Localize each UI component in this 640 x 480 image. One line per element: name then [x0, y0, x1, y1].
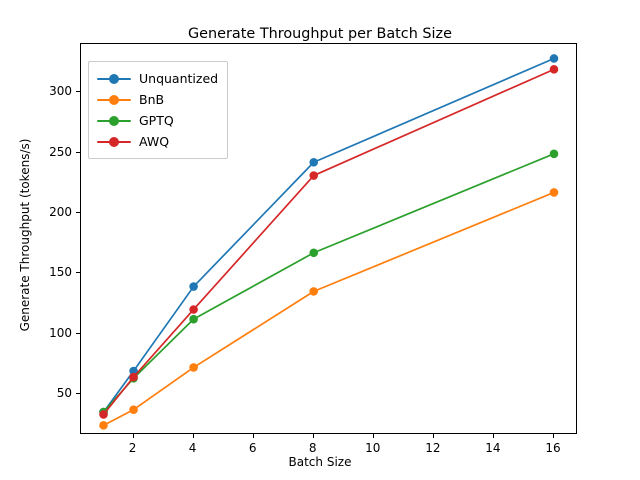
legend-item-unquantized[interactable]: Unquantized — [97, 68, 218, 89]
x-tick-label: 8 — [309, 441, 317, 455]
x-tick-label: 10 — [365, 441, 380, 455]
data-point-marker — [309, 158, 318, 167]
data-point-marker — [550, 188, 559, 197]
series-line — [104, 154, 554, 412]
legend-marker-icon — [97, 93, 131, 107]
data-point-marker — [99, 410, 108, 419]
legend-marker-icon — [97, 135, 131, 149]
legend-item-bnb[interactable]: BnB — [97, 89, 218, 110]
chart-title: Generate Throughput per Batch Size — [0, 26, 640, 42]
data-point-marker — [189, 315, 198, 324]
legend-marker-icon — [97, 72, 131, 86]
legend-item-awq[interactable]: AWQ — [97, 131, 218, 152]
data-point-marker — [99, 421, 108, 430]
data-point-marker — [550, 150, 559, 159]
x-axis-label: Batch Size — [0, 455, 640, 469]
series-bnb — [99, 188, 558, 430]
chart-legend: UnquantizedBnBGPTQAWQ — [88, 61, 228, 159]
data-point-marker — [550, 65, 559, 74]
x-tick-label: 2 — [129, 441, 137, 455]
y-tick-label: 300 — [28, 84, 72, 98]
legend-label: BnB — [139, 92, 164, 107]
data-point-marker — [309, 287, 318, 296]
x-tick-label: 16 — [545, 441, 560, 455]
y-tick-label: 100 — [28, 326, 72, 340]
legend-item-gptq[interactable]: GPTQ — [97, 110, 218, 131]
x-tick-label: 14 — [485, 441, 500, 455]
legend-label: Unquantized — [139, 71, 218, 86]
y-tick-label: 50 — [28, 386, 72, 400]
y-axis-label-container: Generate Throughput (tokens/s) — [0, 0, 30, 480]
data-point-marker — [129, 373, 138, 382]
data-point-marker — [550, 54, 559, 63]
series-line — [104, 192, 554, 425]
data-point-marker — [189, 305, 198, 314]
legend-marker-icon — [97, 114, 131, 128]
series-gptq — [99, 150, 558, 417]
data-point-marker — [189, 363, 198, 372]
x-tick-label: 4 — [189, 441, 197, 455]
data-point-marker — [309, 248, 318, 257]
data-point-marker — [129, 405, 138, 414]
chart-figure: Generate Throughput per Batch Size Gener… — [0, 0, 640, 480]
x-tick-label: 6 — [249, 441, 257, 455]
x-tick-label: 12 — [425, 441, 440, 455]
y-tick-label: 150 — [28, 265, 72, 279]
y-tick-label: 250 — [28, 145, 72, 159]
data-point-marker — [309, 171, 318, 180]
legend-label: AWQ — [139, 134, 169, 149]
legend-label: GPTQ — [139, 113, 174, 128]
data-point-marker — [189, 282, 198, 291]
y-tick-label: 200 — [28, 205, 72, 219]
